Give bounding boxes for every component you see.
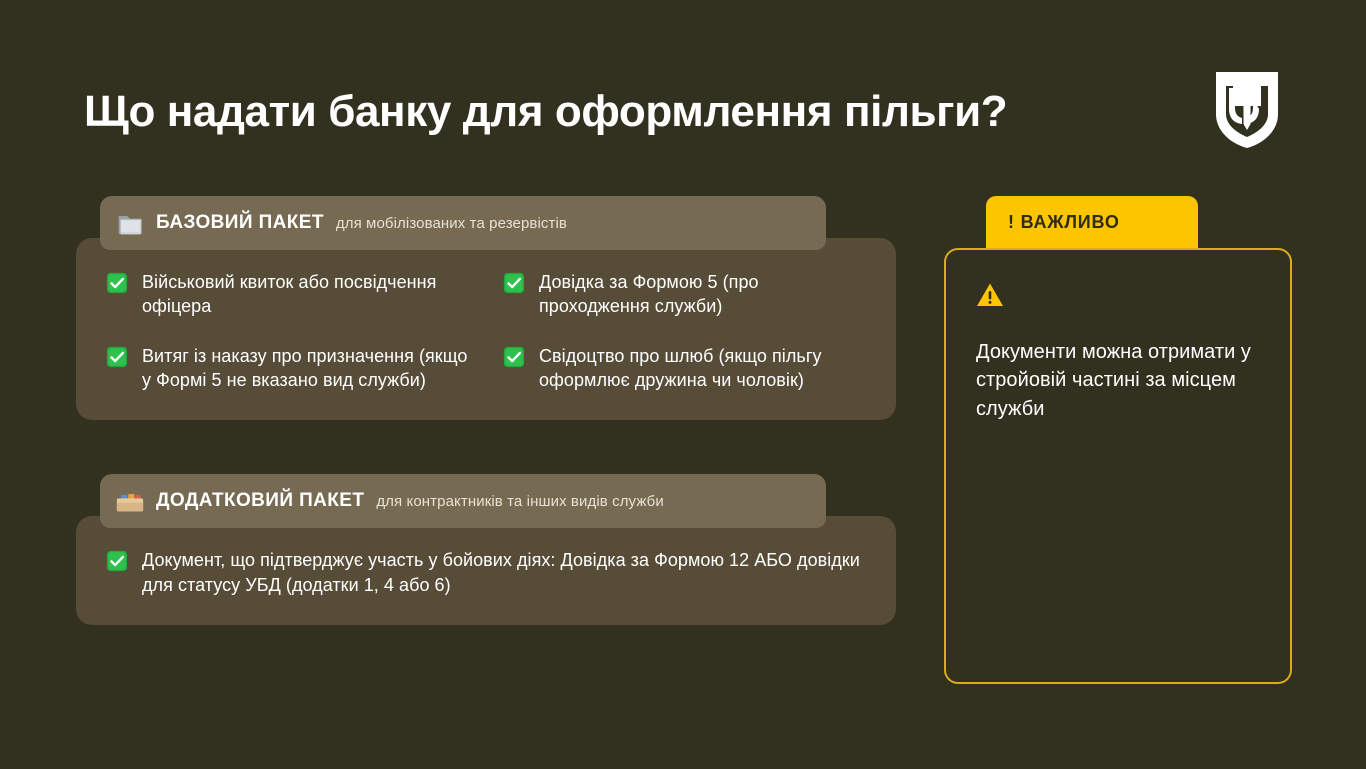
check-mark-button-icon xyxy=(106,550,128,572)
list-item-label: Витяг із наказу про призначення (якщо у … xyxy=(142,344,469,392)
list-item: Військовий квиток або посвідчення офіцер… xyxy=(106,270,469,318)
list-item: Документ, що підтверджує участь у бойови… xyxy=(106,548,866,596)
list-item-label: Документ, що підтверджує участь у бойови… xyxy=(142,548,866,596)
emblem xyxy=(1216,72,1306,153)
packages-column: БАЗОВИЙ ПАКЕТ для мобілізованих та резер… xyxy=(76,196,896,625)
list-item-label: Свідоцтво про шлюб (якщо пільгу оформлює… xyxy=(539,344,866,392)
package-additional-title: ДОДАТКОВИЙ ПАКЕТ xyxy=(156,490,364,512)
list-item: Свідоцтво про шлюб (якщо пільгу оформлює… xyxy=(503,344,866,392)
important-text: Документи можна отримати у стройовій час… xyxy=(976,338,1260,423)
check-mark-button-icon xyxy=(106,346,128,368)
check-mark-button-icon xyxy=(503,272,525,294)
important-panel: ! ВАЖЛИВО Документи можна отримати у стр… xyxy=(944,196,1292,684)
important-tab-label: ! ВАЖЛИВО xyxy=(1008,212,1120,233)
ukraine-armed-forces-trident-shield-icon xyxy=(1216,72,1278,148)
page-title: Що надати банку для оформлення пільги? xyxy=(84,89,1007,135)
package-additional: ДОДАТКОВИЙ ПАКЕТ для контрактників та ін… xyxy=(76,474,896,624)
package-additional-subtitle: для контрактників та інших видів служби xyxy=(376,493,663,510)
list-item-label: Довідка за Формою 5 (про проходження слу… xyxy=(539,270,866,318)
slide-header: Що надати банку для оформлення пільги? xyxy=(84,72,1306,152)
warning-triangle-icon xyxy=(976,282,1004,308)
folder-icon xyxy=(116,209,144,237)
list-item: Витяг із наказу про призначення (якщо у … xyxy=(106,344,469,392)
package-basic-title: БАЗОВИЙ ПАКЕТ xyxy=(156,212,324,234)
list-item: Довідка за Формою 5 (про проходження слу… xyxy=(503,270,866,318)
important-tab: ! ВАЖЛИВО xyxy=(986,196,1198,248)
package-basic-body: Військовий квиток або посвідчення офіцер… xyxy=(76,238,896,420)
card-index-dividers-icon xyxy=(116,487,144,515)
check-mark-button-icon xyxy=(503,346,525,368)
package-basic-header: БАЗОВИЙ ПАКЕТ для мобілізованих та резер… xyxy=(100,196,826,250)
package-additional-body: Документ, що підтверджує участь у бойови… xyxy=(76,516,896,624)
package-basic-subtitle: для мобілізованих та резервістів xyxy=(336,215,567,232)
important-box: Документи можна отримати у стройовій час… xyxy=(944,248,1292,684)
list-item-label: Військовий квиток або посвідчення офіцер… xyxy=(142,270,469,318)
package-basic: БАЗОВИЙ ПАКЕТ для мобілізованих та резер… xyxy=(76,196,896,420)
package-additional-header: ДОДАТКОВИЙ ПАКЕТ для контрактників та ін… xyxy=(100,474,826,528)
check-mark-button-icon xyxy=(106,272,128,294)
